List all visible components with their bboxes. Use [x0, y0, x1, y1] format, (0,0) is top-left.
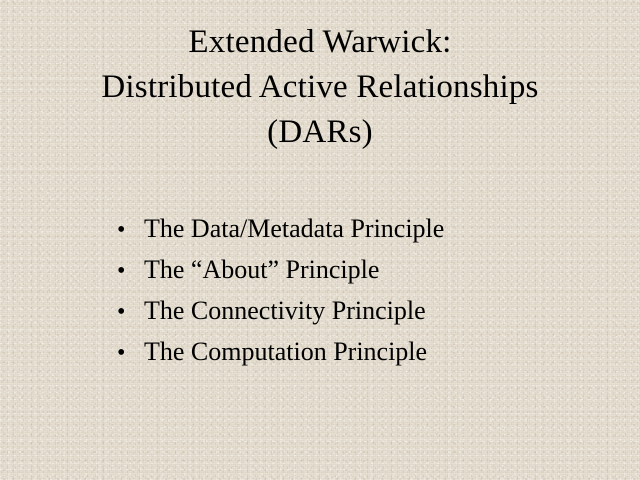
list-item: • The Data/Metadata Principle — [114, 214, 574, 255]
slide-content: Extended Warwick: Distributed Active Rel… — [0, 0, 640, 480]
list-item-label: The “About” Principle — [144, 255, 574, 285]
presentation-slide: Extended Warwick: Distributed Active Rel… — [0, 0, 640, 480]
list-item: • The Computation Principle — [114, 337, 574, 378]
bullet-point-icon: • — [114, 256, 144, 286]
bullet-point-icon: • — [114, 215, 144, 245]
title-line-3: (DARs) — [0, 110, 640, 155]
slide-title: Extended Warwick: Distributed Active Rel… — [0, 20, 640, 155]
bullet-point-icon: • — [114, 338, 144, 368]
list-item-label: The Data/Metadata Principle — [144, 214, 574, 244]
bullet-list: • The Data/Metadata Principle • The “Abo… — [114, 214, 574, 378]
list-item: • The “About” Principle — [114, 255, 574, 296]
bullet-point-icon: • — [114, 297, 144, 327]
list-item-label: The Computation Principle — [144, 337, 574, 367]
list-item: • The Connectivity Principle — [114, 296, 574, 337]
title-line-1: Extended Warwick: — [0, 20, 640, 65]
list-item-label: The Connectivity Principle — [144, 296, 574, 326]
title-line-2: Distributed Active Relationships — [0, 65, 640, 110]
